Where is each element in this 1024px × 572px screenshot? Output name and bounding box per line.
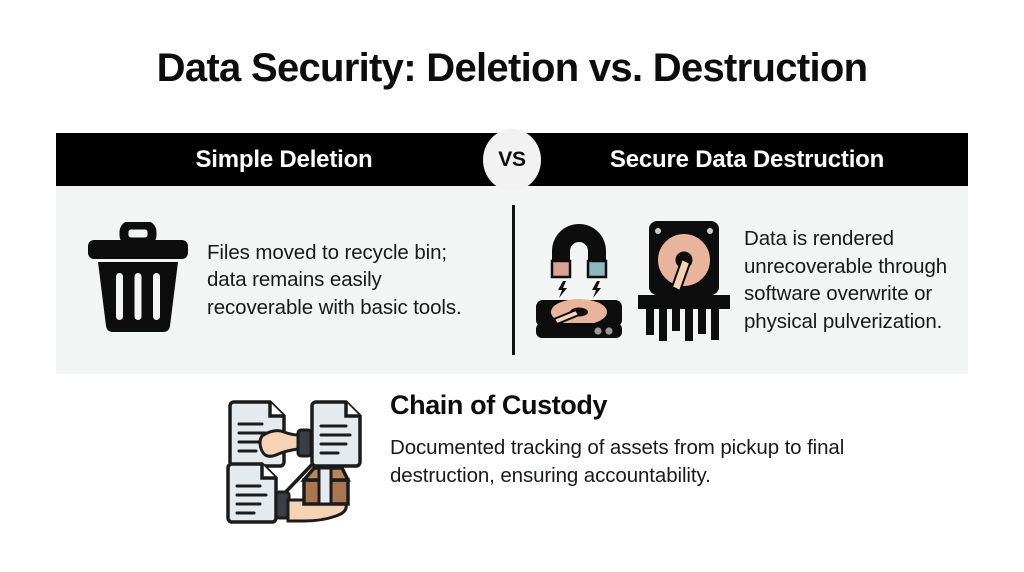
chain-of-custody-documents-icon	[218, 392, 362, 533]
pane-simple-deletion: Files moved to recycle bin; data remains…	[56, 186, 512, 374]
chain-of-custody-description: Documented tracking of assets from picku…	[390, 434, 930, 490]
header-label-simple-deletion: Simple Deletion	[56, 146, 512, 174]
secure-destruction-description: Data is rendered unrecoverable through s…	[744, 225, 959, 335]
comparison-block: Simple Deletion Secure Data Destruction …	[56, 133, 968, 374]
simple-deletion-description: Files moved to recycle bin; data remains…	[207, 239, 492, 322]
trash-can-icon	[86, 222, 190, 339]
chain-of-custody-title: Chain of Custody	[390, 388, 930, 422]
header-label-secure-destruction: Secure Data Destruction	[512, 146, 968, 174]
page-title: Data Security: Deletion vs. Destruction	[0, 46, 1024, 91]
column-divider	[512, 205, 515, 355]
comparison-content-band: Files moved to recycle bin; data remains…	[56, 186, 968, 374]
chain-of-custody-section: Chain of Custody Documented tracking of …	[0, 388, 1024, 533]
comparison-header-bar: Simple Deletion Secure Data Destruction …	[56, 133, 968, 186]
hard-drive-shredder-icon	[636, 215, 732, 346]
chain-of-custody-text: Chain of Custody Documented tracking of …	[390, 388, 930, 490]
degausser-magnet-hard-drive-icon	[530, 215, 628, 346]
pane-secure-destruction: Data is rendered unrecoverable through s…	[512, 186, 968, 374]
vs-badge: VS	[483, 129, 541, 191]
